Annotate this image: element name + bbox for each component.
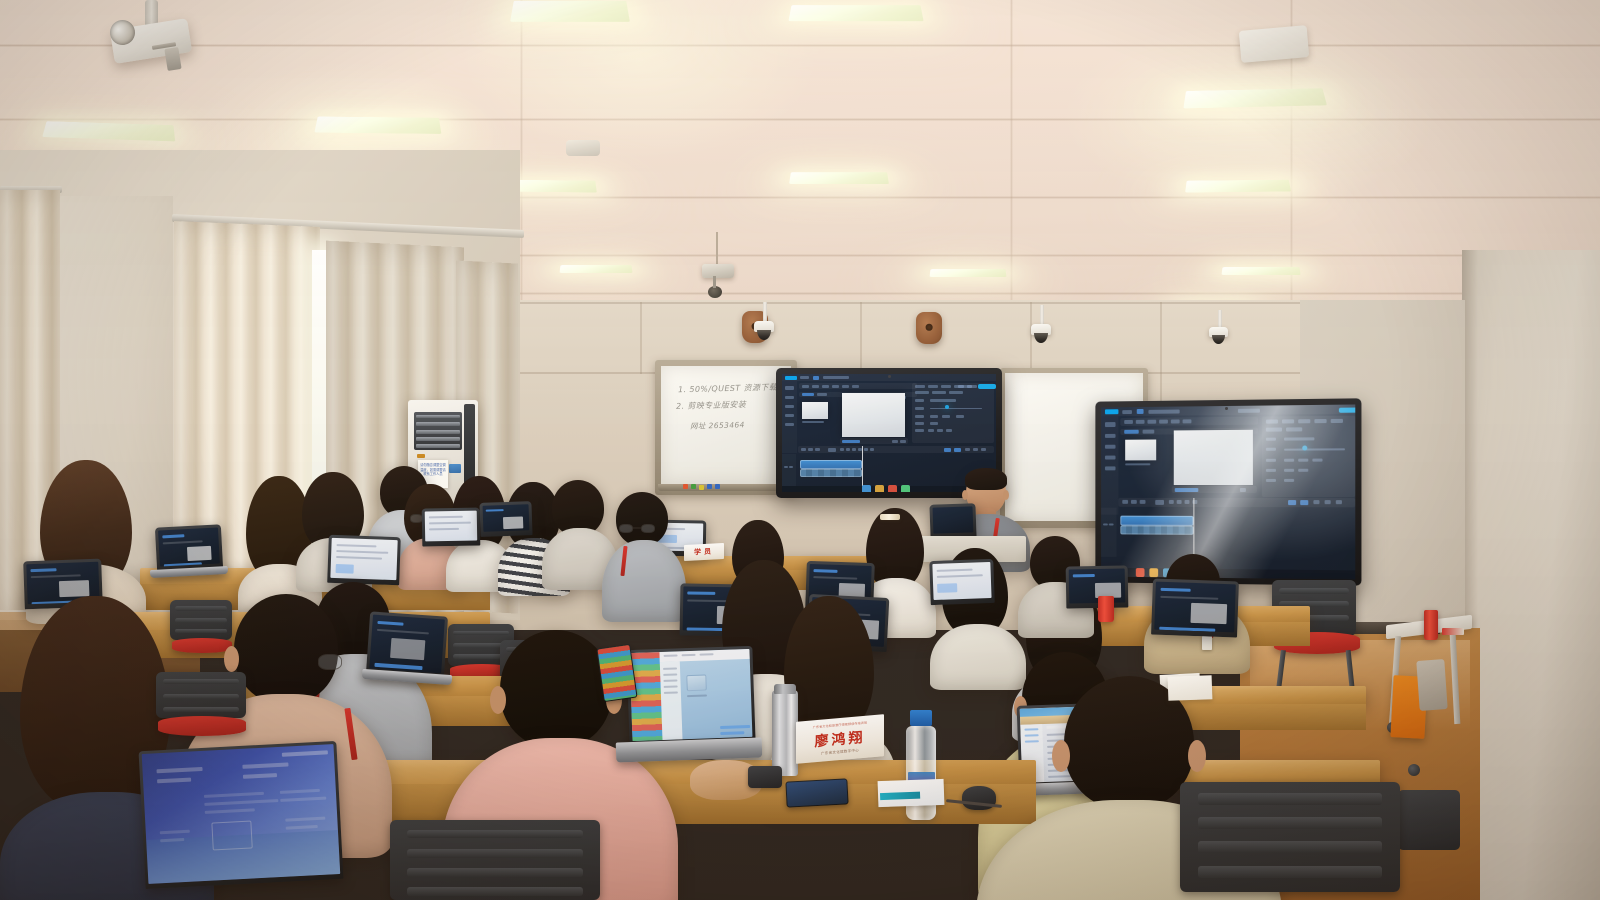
dome-camera-center-arm [1040,305,1044,325]
whiteboard-line-2: 2. 剪映专业版安装 [676,399,746,412]
ceiling-sensor-small [566,140,600,156]
display-camera [888,375,891,378]
laptop-lap-9[interactable] [929,559,994,605]
ceiling-light-10 [929,269,1006,277]
red-cup-desk[interactable] [1098,596,1114,622]
ceiling-light-2 [1183,88,1327,108]
instructor-laptop[interactable] [929,503,976,539]
course-booklet[interactable] [878,779,945,807]
hair-clip [880,514,900,520]
paper-sheet-front[interactable] [1168,675,1213,701]
aircon-logo [417,454,425,458]
laptop-lap-10[interactable] [1066,565,1129,608]
earbuds-case[interactable] [748,766,782,788]
aircon-panel [449,464,461,473]
trainee-t11 [602,492,682,618]
smoke-detector [1239,25,1310,63]
ceiling-light-1 [510,1,630,22]
nameplate-back: 学员 [684,543,724,561]
magnet-yellow [699,485,704,490]
magnet-blue-2 [715,484,720,489]
trainee-head [616,492,668,546]
dome-camera-right-arm [1218,310,1222,328]
red-thermos-cup[interactable] [1424,610,1438,640]
magnet-red [683,484,688,489]
trainee-head [500,630,612,748]
magnet-green [691,484,696,489]
thermos[interactable] [772,690,798,776]
ceiling-light-5 [788,5,923,21]
smartphone-desk[interactable] [785,778,848,807]
ceiling-light-4 [314,117,441,134]
classroom-photo: 1. 50%/QUEST 资源下载 2. 剪映专业版安装 网址 2653464 [0,0,1600,900]
ceiling-light-8 [1185,180,1291,193]
laptop-lap-1[interactable] [155,524,223,571]
trainee-badge [1202,636,1212,650]
right-wall-pillar [1462,250,1600,900]
smartphone-held[interactable] [596,644,637,702]
chair-front-3[interactable] [156,672,246,742]
ceiling-light-9 [560,265,633,273]
editor-preview-monitor [842,393,905,437]
laptop-lap-foreground-center[interactable] [626,646,755,746]
chair-front-2[interactable] [1180,782,1400,900]
trainee-body [602,540,686,622]
instructor-hair [965,468,1007,490]
desk-items-right [1442,628,1464,635]
editor-export-button [978,384,996,389]
trainee-head [234,594,338,704]
ceiling-light-7 [789,172,889,184]
gray-bag[interactable] [1416,659,1447,711]
trainee-hair [866,508,924,588]
dome-camera-left-arm [763,302,767,322]
laptop-lap-5[interactable] [479,501,532,537]
laptop-lap-3[interactable] [327,535,401,585]
magnet-blue-1 [707,484,712,489]
ceiling-light-11 [1221,267,1300,275]
water-bottle-cap[interactable] [910,710,932,726]
desk-nameplate: 广东省文化和旅游厅短视频创作培训班 廖鸿翔 广东省文化馆数字中心 [796,714,884,764]
thermos-cap[interactable] [774,684,796,694]
laptop-lap-foreground-left[interactable] [139,741,344,889]
wall-speaker-center [916,312,942,344]
whiteboard-line-3: 网址 2653464 [690,419,745,431]
ceiling-mic [702,264,734,278]
aircon-grille [414,412,462,450]
ceiling-mic-cable [716,232,718,266]
editor-timeline-clip [800,460,862,469]
laptop-lap-4[interactable] [422,507,481,546]
chair-front-1[interactable] [390,820,600,900]
laptop-lap-13[interactable] [1151,579,1239,638]
spare-chair-far-right[interactable] [1398,790,1460,850]
ceiling-mic-stem [713,276,716,288]
